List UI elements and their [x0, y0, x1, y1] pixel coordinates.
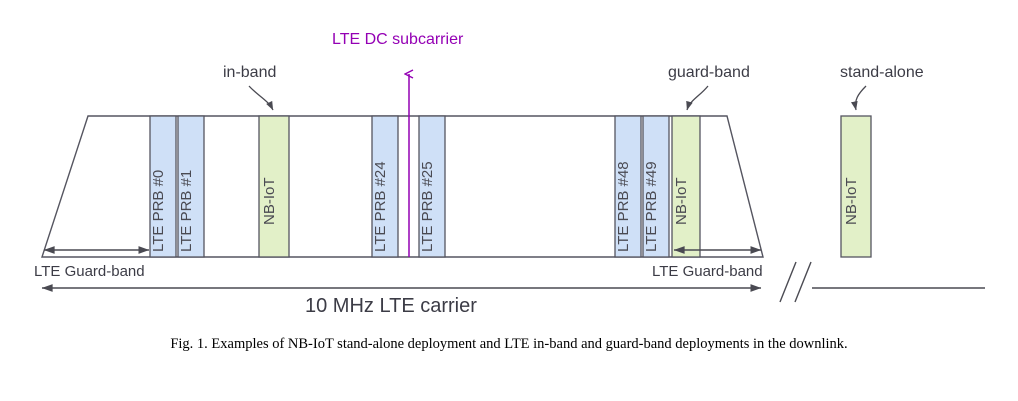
callout-guard-band: guard-band [668, 64, 750, 110]
block-label: NB-IoT [843, 177, 860, 225]
block-lte-prb-1[interactable]: LTE PRB #1 [178, 116, 204, 257]
figure-caption: Fig. 1. Examples of NB-IoT stand-alone d… [170, 336, 847, 352]
resource-blocks: LTE PRB #0 LTE PRB #1 NB-IoT LTE PRB #24… [150, 116, 871, 257]
axis-break [780, 262, 985, 302]
block-lte-prb-48[interactable]: LTE PRB #48 [615, 116, 641, 257]
callout-in-band: in-band [223, 64, 276, 110]
measure-left-guard-band: LTE Guard-band [34, 250, 149, 280]
figure-container: LTE PRB #0 LTE PRB #1 NB-IoT LTE PRB #24… [0, 0, 1018, 401]
nbiot-deployment-diagram: LTE PRB #0 LTE PRB #1 NB-IoT LTE PRB #24… [0, 0, 1018, 401]
guard-band-pointer-arrow [687, 86, 708, 110]
block-label: LTE PRB #49 [643, 161, 660, 252]
guard-band-label: guard-band [668, 64, 750, 81]
block-label: NB-IoT [261, 177, 278, 225]
block-nbiot-in-band[interactable]: NB-IoT [259, 116, 289, 257]
axis-break-slash-2 [795, 262, 811, 302]
in-band-label: in-band [223, 64, 276, 81]
block-lte-prb-24[interactable]: LTE PRB #24 [372, 116, 398, 257]
carrier-label: 10 MHz LTE carrier [305, 295, 477, 317]
left-guard-band-label: LTE Guard-band [34, 263, 145, 280]
block-nbiot-guard-band[interactable]: NB-IoT [672, 116, 700, 257]
in-band-pointer-arrow [249, 86, 273, 110]
block-lte-prb-25[interactable]: LTE PRB #25 [419, 116, 445, 257]
stand-alone-label: stand-alone [840, 64, 924, 81]
measure-lte-carrier: 10 MHz LTE carrier [42, 288, 761, 317]
stand-alone-pointer-arrow [855, 86, 866, 110]
block-label: LTE PRB #24 [372, 161, 389, 252]
axis-break-slash-1 [780, 262, 796, 302]
block-label: LTE PRB #25 [419, 161, 436, 252]
block-label: NB-IoT [673, 177, 690, 225]
block-nbiot-stand-alone[interactable]: NB-IoT [841, 116, 871, 257]
right-guard-band-label: LTE Guard-band [652, 263, 763, 280]
block-lte-prb-49[interactable]: LTE PRB #49 [643, 116, 669, 257]
block-lte-prb-0[interactable]: LTE PRB #0 [150, 116, 176, 257]
block-label: LTE PRB #0 [150, 170, 167, 252]
callout-stand-alone: stand-alone [840, 64, 924, 110]
block-label: LTE PRB #48 [615, 161, 632, 252]
block-label: LTE PRB #1 [178, 170, 195, 252]
dc-subcarrier-label: LTE DC subcarrier [332, 31, 464, 48]
